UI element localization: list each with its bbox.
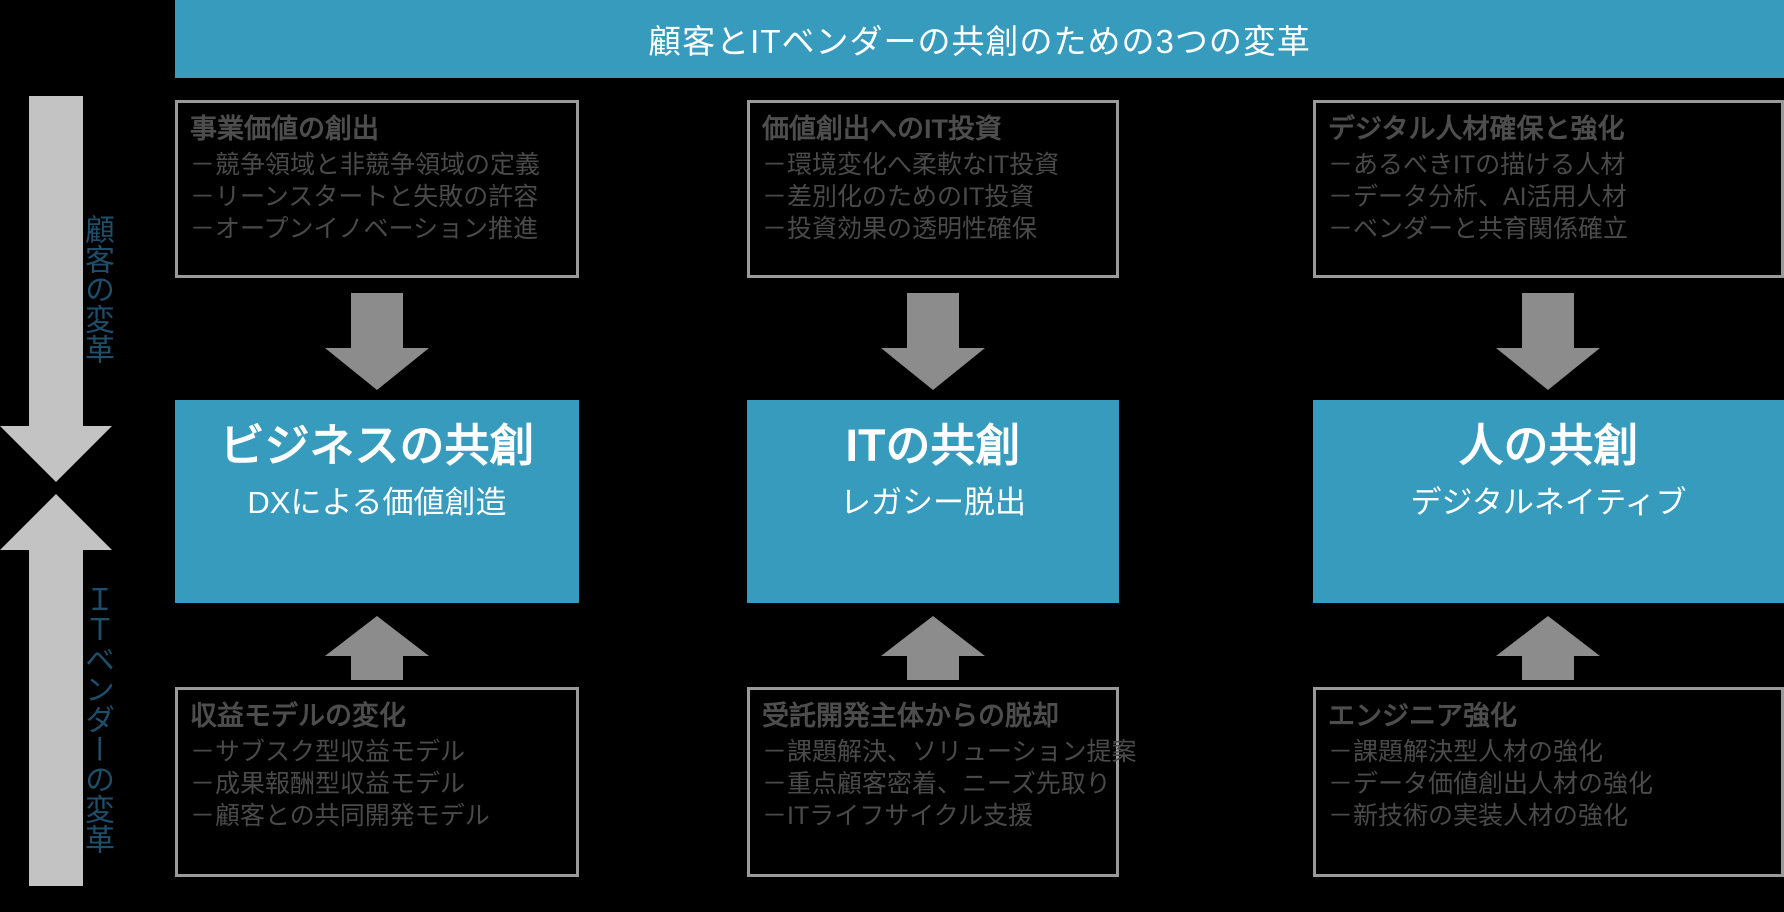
list-item: －投資効果の透明性確保 xyxy=(762,213,1116,245)
arrow-up-icon xyxy=(325,616,429,656)
connector-shaft xyxy=(907,293,959,348)
center-box-it: ITの共創 レガシー脱出 xyxy=(747,400,1119,603)
connector-shaft xyxy=(907,656,959,680)
list-item: －差別化のためのIT投資 xyxy=(762,181,1116,213)
bottom-box-it: 受託開発主体からの脱却 －課題解決、ソリューション提案 －重点顧客密着、ニーズ先… xyxy=(747,687,1119,877)
arrow-head-down-icon xyxy=(0,426,112,482)
center-box-subtitle: レガシー脱出 xyxy=(840,484,1026,521)
top-box-business: 事業価値の創出 －競争領域と非競争領域の定義 －リーンスタートと失敗の許容 －オ… xyxy=(175,100,579,278)
list-item: －環境変化へ柔軟なIT投資 xyxy=(762,149,1116,181)
top-box-people: デジタル人材確保と強化 －あるべきITの描ける人材 －データ分析、AI活用人材 … xyxy=(1313,100,1784,278)
diagram-canvas: 顧客とITベンダーの共創のための3つの変革 顧客の変革 ＩＴベンダーの変革 事業… xyxy=(0,0,1784,912)
list-item: －成果報酬型収益モデル xyxy=(190,768,576,800)
list-item: －課題解決型人材の強化 xyxy=(1328,736,1781,768)
connector-down-people xyxy=(1496,293,1600,390)
arrow-down-icon xyxy=(1496,348,1600,390)
vendor-transformation-label: ＩＴベンダーの変革 xyxy=(0,556,112,882)
center-box-subtitle: デジタルネイティブ xyxy=(1411,484,1687,521)
box-list: －環境変化へ柔軟なIT投資 －差別化のためのIT投資 －投資効果の透明性確保 xyxy=(762,149,1116,245)
list-item: －データ分析、AI活用人材 xyxy=(1328,181,1781,213)
customer-transformation-label: 顧客の変革 xyxy=(0,152,112,426)
list-item: －サブスク型収益モデル xyxy=(190,736,576,768)
box-title: デジタル人材確保と強化 xyxy=(1328,113,1781,147)
arrow-down-icon xyxy=(881,348,985,390)
box-title: 収益モデルの変化 xyxy=(190,700,576,734)
arrow-up-icon xyxy=(881,616,985,656)
center-box-subtitle: DXによる価値創造 xyxy=(247,484,506,521)
list-item: －ITライフサイクル支援 xyxy=(762,800,1116,832)
connector-up-it xyxy=(881,616,985,680)
list-item: －オープンイノベーション推進 xyxy=(190,213,576,245)
center-box-title: ITの共創 xyxy=(846,420,1021,472)
box-list: －課題解決、ソリューション提案 －重点顧客密着、ニーズ先取り －ITライフサイク… xyxy=(762,736,1116,832)
connector-shaft xyxy=(1522,656,1574,680)
side-rail: 顧客の変革 ＩＴベンダーの変革 xyxy=(0,96,112,886)
bottom-box-people: エンジニア強化 －課題解決型人材の強化 －データ価値創出人材の強化 －新技術の実… xyxy=(1313,687,1784,877)
top-box-it: 価値創出へのIT投資 －環境変化へ柔軟なIT投資 －差別化のためのIT投資 －投… xyxy=(747,100,1119,278)
box-list: －競争領域と非競争領域の定義 －リーンスタートと失敗の許容 －オープンイノベーシ… xyxy=(190,149,576,245)
center-box-title: 人の共創 xyxy=(1458,420,1638,472)
arrow-up-icon xyxy=(1496,616,1600,656)
list-item: －データ価値創出人材の強化 xyxy=(1328,768,1781,800)
list-item: －リーンスタートと失敗の許容 xyxy=(190,181,576,213)
list-item: －ベンダーと共育関係確立 xyxy=(1328,213,1781,245)
box-list: －あるべきITの描ける人材 －データ分析、AI活用人材 －ベンダーと共育関係確立 xyxy=(1328,149,1781,245)
connector-up-people xyxy=(1496,616,1600,680)
box-title: 受託開発主体からの脱却 xyxy=(762,700,1116,734)
arrow-down-icon xyxy=(325,348,429,390)
connector-down-business xyxy=(325,293,429,390)
center-box-business: ビジネスの共創 DXによる価値創造 xyxy=(175,400,579,603)
column-people: デジタル人材確保と強化 －あるべきITの描ける人材 －データ分析、AI活用人材 … xyxy=(1313,0,1784,912)
box-title: 事業価値の創出 xyxy=(190,113,576,147)
list-item: －顧客との共同開発モデル xyxy=(190,800,576,832)
box-list: －サブスク型収益モデル －成果報酬型収益モデル －顧客との共同開発モデル xyxy=(190,736,576,832)
column-it: 価値創出へのIT投資 －環境変化へ柔軟なIT投資 －差別化のためのIT投資 －投… xyxy=(747,0,1119,912)
list-item: －競争領域と非競争領域の定義 xyxy=(190,149,576,181)
connector-shaft xyxy=(351,293,403,348)
box-title: 価値創出へのIT投資 xyxy=(762,113,1116,147)
list-item: －新技術の実装人材の強化 xyxy=(1328,800,1781,832)
connector-shaft xyxy=(351,656,403,680)
list-item: －あるべきITの描ける人材 xyxy=(1328,149,1781,181)
connector-shaft xyxy=(1522,293,1574,348)
column-business: 事業価値の創出 －競争領域と非競争領域の定義 －リーンスタートと失敗の許容 －オ… xyxy=(175,0,579,912)
box-list: －課題解決型人材の強化 －データ価値創出人材の強化 －新技術の実装人材の強化 xyxy=(1328,736,1781,832)
customer-transformation-arrow: 顧客の変革 xyxy=(0,96,112,482)
center-box-title: ビジネスの共創 xyxy=(219,420,534,472)
vendor-transformation-arrow: ＩＴベンダーの変革 xyxy=(0,494,112,886)
bottom-box-business: 収益モデルの変化 －サブスク型収益モデル －成果報酬型収益モデル －顧客との共同… xyxy=(175,687,579,877)
connector-up-business xyxy=(325,616,429,680)
box-title: エンジニア強化 xyxy=(1328,700,1781,734)
list-item: －重点顧客密着、ニーズ先取り xyxy=(762,768,1116,800)
list-item: －課題解決、ソリューション提案 xyxy=(762,736,1116,768)
arrow-head-up-icon xyxy=(0,494,112,550)
connector-down-it xyxy=(881,293,985,390)
center-box-people: 人の共創 デジタルネイティブ xyxy=(1313,400,1784,603)
